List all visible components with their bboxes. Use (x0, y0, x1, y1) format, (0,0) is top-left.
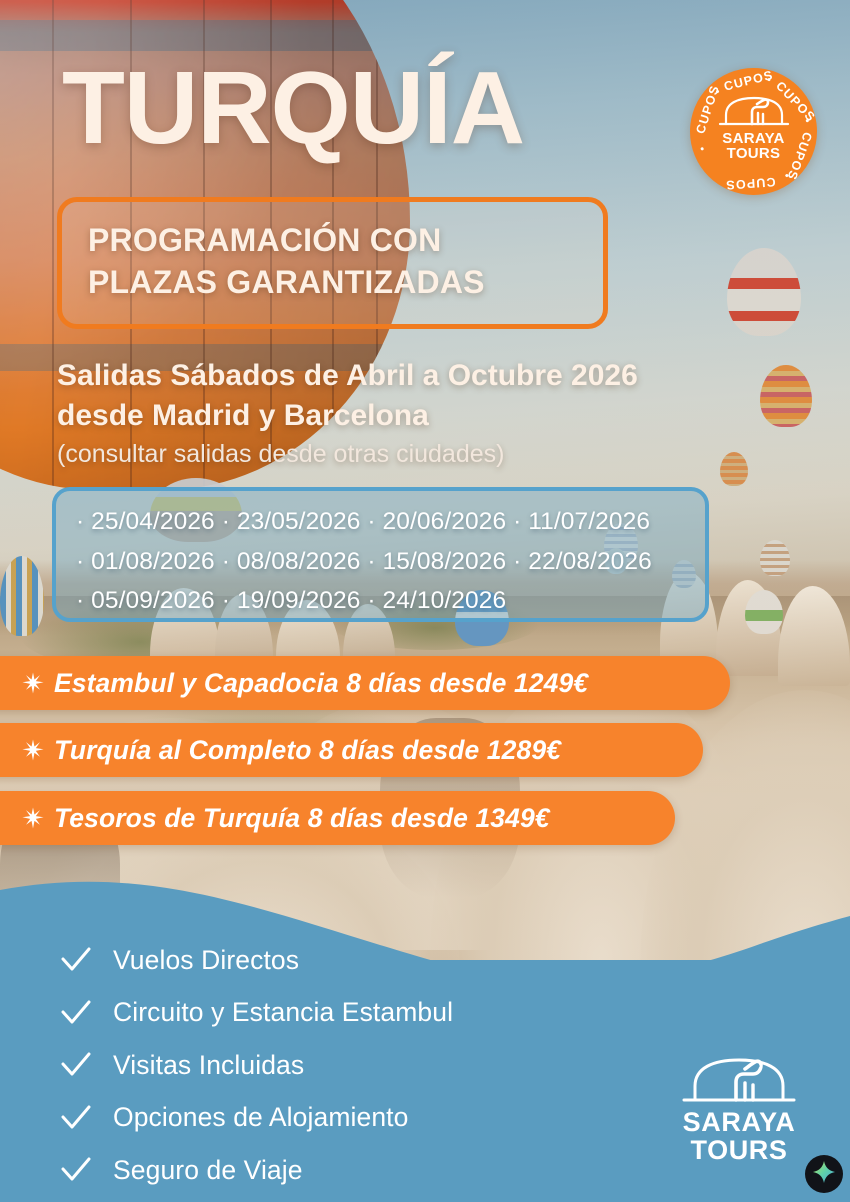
dates-row: · 05/09/2026 · 19/09/2026 · 24/10/2026 (76, 581, 685, 621)
feature-label: Opciones de Alojamiento (113, 1102, 408, 1133)
travel-poster: TURQUÍA CUPOS CUPOS CUPOS CUPOS CUPOS (0, 0, 850, 1202)
page-title: TURQUÍA (62, 59, 524, 158)
offer-label: Turquía al Completo 8 días desde 1289€ (54, 735, 561, 766)
ring-dot (767, 77, 771, 81)
check-icon (59, 996, 93, 1030)
feature-item: Seguro de Viaje (59, 1146, 619, 1194)
check-icon (59, 1048, 93, 1082)
sparkle-star-icon (22, 807, 44, 829)
departures-note: (consultar salidas desde otras ciudades) (57, 438, 817, 472)
badge-brand-line2: TOURS (690, 146, 817, 161)
offer-label: Estambul y Capadocia 8 días desde 1249€ (54, 668, 588, 699)
four-point-star-icon (812, 1160, 836, 1189)
camel-arch-icon (690, 96, 817, 131)
cupos-ring-word: CUPOS (724, 174, 775, 191)
departures-info: Salidas Sábados de Abril a Octubre 2026 … (57, 356, 817, 472)
check-icon (59, 1101, 93, 1135)
offer-label: Tesoros de Turquía 8 días desde 1349€ (54, 803, 550, 834)
headline-line1: PROGRAMACIÓN CON (88, 220, 577, 262)
corner-badge[interactable] (805, 1155, 843, 1193)
headline-line2: PLAZAS GARANTIZADAS (88, 262, 577, 304)
feature-label: Circuito y Estancia Estambul (113, 997, 453, 1028)
departure-dates-box: · 25/04/2026 · 23/05/2026 · 20/06/2026 ·… (52, 487, 709, 622)
features-list: Vuelos Directos Circuito y Estancia Esta… (59, 936, 619, 1199)
offer-bar-2[interactable]: Turquía al Completo 8 días desde 1289€ (0, 723, 703, 777)
feature-item: Opciones de Alojamiento (59, 1094, 619, 1142)
footer-brand-line1: SARAYA (660, 1108, 818, 1137)
feature-item: Circuito y Estancia Estambul (59, 989, 619, 1037)
check-icon (59, 1153, 93, 1187)
sparkle-star-icon (22, 672, 44, 694)
dates-row: · 25/04/2026 · 23/05/2026 · 20/06/2026 ·… (76, 502, 685, 542)
ring-dot (715, 89, 719, 93)
cupos-badge: CUPOS CUPOS CUPOS CUPOS CUPOS (690, 68, 817, 195)
feature-label: Vuelos Directos (113, 945, 299, 976)
headline-box: PROGRAMACIÓN CON PLAZAS GARANTIZADAS (57, 197, 608, 329)
badge-brand: SARAYA TOURS (690, 131, 817, 162)
offer-bar-3[interactable]: Tesoros de Turquía 8 días desde 1349€ (0, 791, 675, 845)
departures-line1: Salidas Sábados de Abril a Octubre 2026 (57, 356, 817, 396)
footer-brand: SARAYA TOURS (660, 1108, 818, 1165)
sparkle-star-icon (22, 739, 44, 761)
feature-item: Visitas Incluidas (59, 1041, 619, 1089)
ring-dot (784, 173, 788, 177)
offer-bar-1[interactable]: Estambul y Capadocia 8 días desde 1249€ (0, 656, 730, 710)
badge-core: SARAYA TOURS (690, 96, 817, 162)
badge-brand-line1: SARAYA (690, 131, 817, 146)
feature-label: Visitas Incluidas (113, 1050, 304, 1081)
camel-arch-icon (681, 1089, 797, 1106)
footer-logo: SARAYA TOURS (660, 1056, 818, 1165)
departures-line2: desde Madrid y Barcelona (57, 396, 817, 436)
feature-label: Seguro de Viaje (113, 1155, 303, 1186)
footer-brand-line2: TOURS (660, 1136, 818, 1165)
dates-row: · 01/08/2026 · 08/08/2026 · 15/08/2026 ·… (76, 542, 685, 582)
feature-item: Vuelos Directos (59, 936, 619, 984)
check-icon (59, 943, 93, 977)
